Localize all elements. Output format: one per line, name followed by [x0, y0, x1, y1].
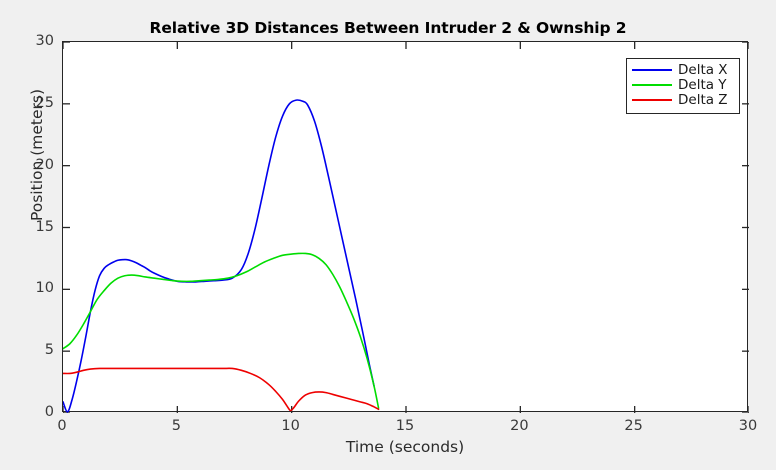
x-tick-label: 25 [624, 418, 642, 434]
figure-container: Relative 3D Distances Between Intruder 2… [0, 0, 776, 470]
x-tick-label: 20 [510, 418, 528, 434]
series-line-delta-x [63, 100, 374, 412]
x-tick-label: 0 [57, 418, 66, 434]
x-tick-label: 10 [281, 418, 299, 434]
y-tick-label: 0 [6, 404, 54, 420]
y-tick-label: 5 [6, 342, 54, 358]
legend-item[interactable]: Delta Y [632, 78, 734, 92]
legend-color-swatch [632, 84, 672, 86]
legend-label: Delta Y [678, 78, 727, 92]
y-axis-label: Position (meters) [28, 45, 46, 265]
legend-label: Delta Z [678, 93, 728, 107]
legend-color-swatch [632, 69, 672, 71]
chart-title: Relative 3D Distances Between Intruder 2… [0, 19, 776, 37]
series-line-delta-y [63, 253, 379, 408]
legend-label: Delta X [678, 63, 728, 77]
x-tick-label: 30 [739, 418, 757, 434]
chart-legend: Delta XDelta YDelta Z [626, 58, 740, 114]
y-tick-label: 10 [6, 280, 54, 296]
series-line-delta-z [63, 368, 379, 410]
legend-item[interactable]: Delta Z [632, 93, 734, 107]
legend-color-swatch [632, 99, 672, 101]
x-tick-label: 15 [396, 418, 414, 434]
x-tick-label: 5 [172, 418, 181, 434]
x-axis-label: Time (seconds) [62, 438, 748, 456]
legend-item[interactable]: Delta X [632, 63, 734, 77]
